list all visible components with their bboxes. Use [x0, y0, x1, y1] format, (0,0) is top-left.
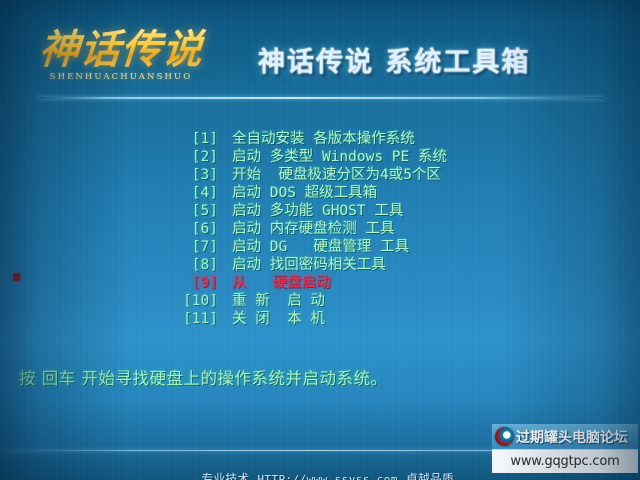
forum-logo-icon [495, 427, 514, 446]
menu-item-number: [3] [0, 167, 218, 183]
brand-logo: 神话传说 SHENHUACHUANSHUO [26, 26, 216, 98]
menu-item-number: [7] [0, 239, 218, 255]
menu-item-4[interactable]: [4]启动 DOS 超级工具箱 [0, 181, 640, 199]
footer-left-text: 专业技术 [201, 470, 249, 480]
footer-right-text: 卓越品质 [406, 470, 454, 480]
menu-item-3[interactable]: [3]开始 硬盘极速分区为4或5个区 [0, 163, 640, 181]
menu-item-number: [6] [0, 221, 218, 237]
menu-item-2[interactable]: [2]启动 多类型 Windows PE 系统 [0, 145, 640, 163]
menu-item-number: [4] [0, 185, 218, 201]
menu-item-7[interactable]: [7]启动 DG 硬盘管理 工具 [0, 235, 640, 253]
menu-item-5[interactable]: [5]启动 多功能 GHOST 工具 [0, 199, 640, 217]
watermark-header: 过期罐头电脑论坛 [492, 424, 638, 449]
brand-logo-chinese: 神话传说 [24, 26, 217, 74]
menu-item-6[interactable]: [6]启动 内存硬盘检测 工具 [0, 217, 640, 235]
menu-item-number: [2] [0, 149, 218, 165]
footer-url: HTTP://www.ssyss.com [249, 473, 405, 480]
divider-top [38, 97, 604, 99]
menu-item-11[interactable]: [11]关 闭 本 机 [0, 307, 640, 325]
menu-item-number: [11] [0, 311, 218, 327]
watermark-forum-name: 过期罐头电脑论坛 [516, 427, 628, 447]
menu-item-number: [9] [0, 275, 218, 291]
hint-text: 按 回车 开始寻找硬盘上的操作系统并启动系统。 [19, 365, 388, 389]
watermark-url-bar: www.gqgtpc.com [492, 449, 638, 473]
menu-item-9[interactable]: [9]从 硬盘启动 [0, 271, 640, 289]
boot-menu-list[interactable]: [1]全自动安装 各版本操作系统[2]启动 多类型 Windows PE 系统[… [0, 127, 640, 325]
watermark-badge: 过期罐头电脑论坛 www.gqgtpc.com [492, 424, 638, 472]
menu-item-8[interactable]: [8]启动 找回密码相关工具 [0, 253, 640, 271]
menu-item-number: [8] [0, 257, 218, 273]
menu-item-number: [1] [0, 131, 218, 147]
menu-item-10[interactable]: [10]重 新 启 动 [0, 289, 640, 307]
menu-item-1[interactable]: [1]全自动安装 各版本操作系统 [0, 127, 640, 145]
watermark-url: www.gqgtpc.com [510, 454, 619, 469]
menu-item-number: [5] [0, 203, 218, 219]
boot-menu-screen: 神话传说 SHENHUACHUANSHUO 神话传说 系统工具箱 [1]全自动安… [0, 0, 640, 480]
selection-cursor-marker [13, 273, 20, 281]
menu-item-number: [10] [0, 293, 218, 309]
page-title: 神话传说 系统工具箱 [258, 40, 530, 79]
menu-item-label: 关 闭 本 机 [218, 307, 325, 328]
